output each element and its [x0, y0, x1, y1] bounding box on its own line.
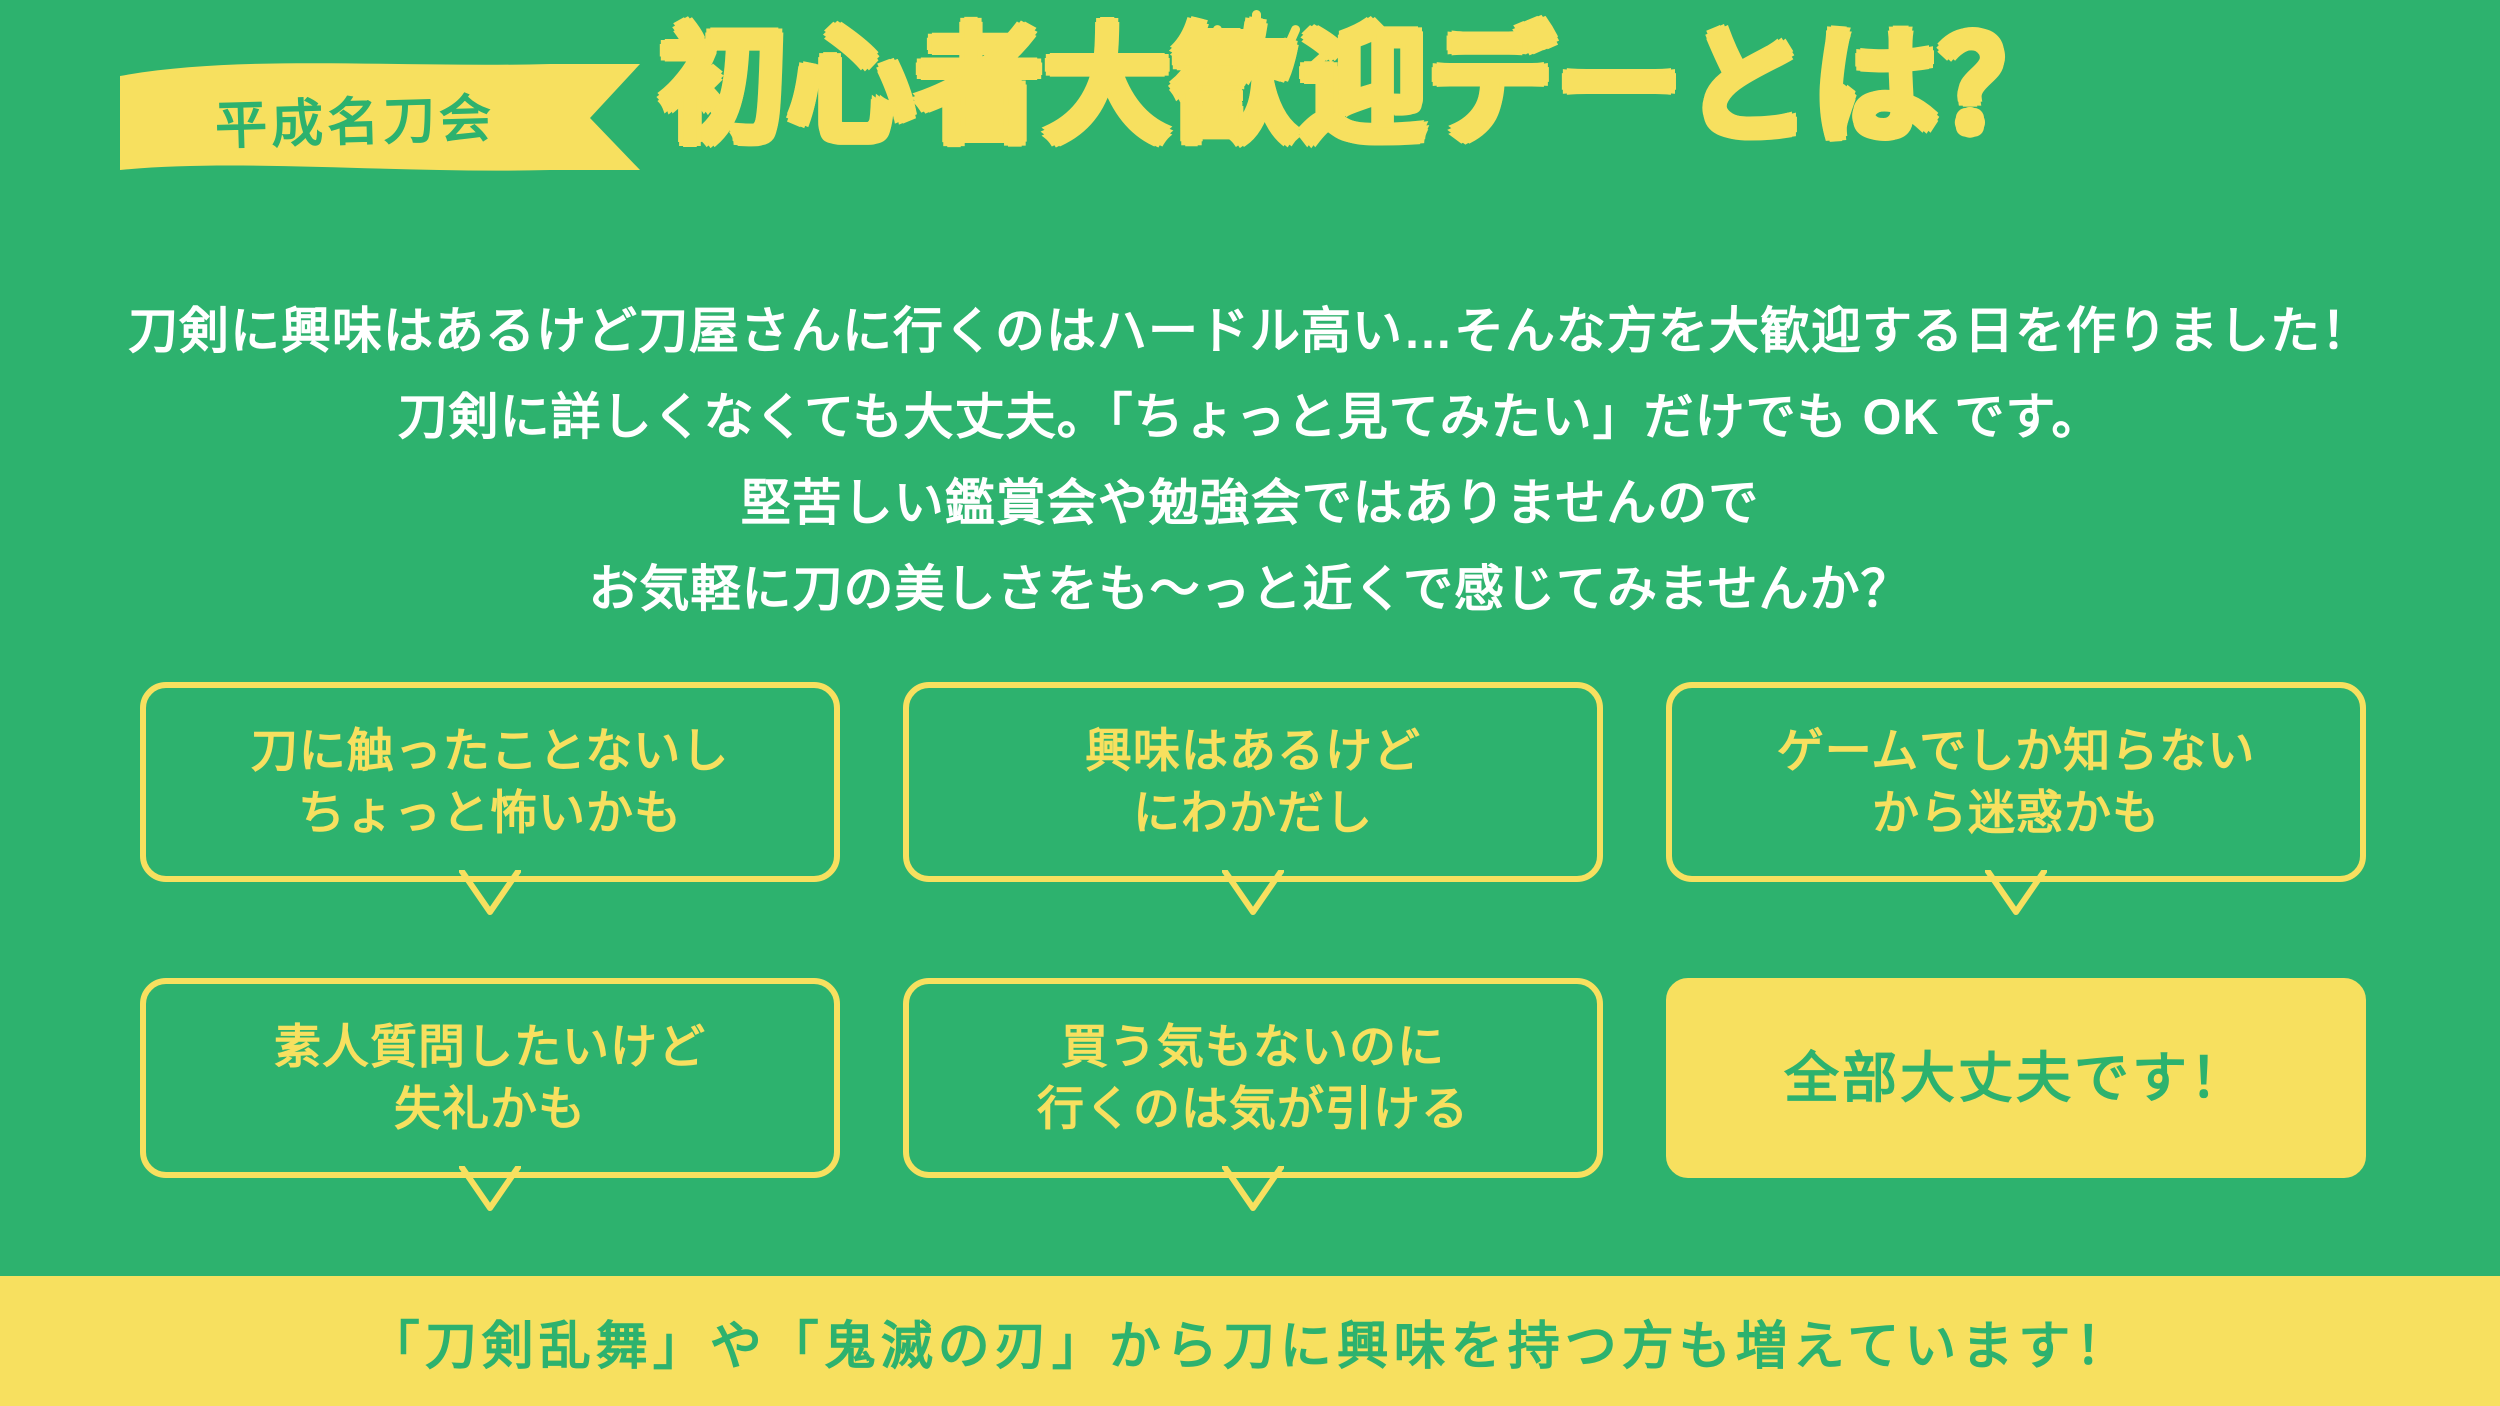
- concern-bubble-2: 興味はあるけど にわかだし: [903, 682, 1603, 882]
- bubble-5-line-1: 買う気もないのに: [1061, 1016, 1445, 1078]
- bubble-5-line-2: 行くのは気が引ける: [1037, 1078, 1469, 1140]
- bubble-3-line-1: ゲームでしか知らない: [1777, 720, 2256, 782]
- concern-bubble-5: 買う気もないのに 行くのは気が引ける: [903, 978, 1603, 1178]
- bubble-1-line-2: ちょっと怖いかも: [298, 782, 682, 844]
- reassurance-text: 全部大丈夫です！: [1784, 1047, 2248, 1109]
- speech-tail-icon: [459, 1166, 521, 1212]
- lead-line-2: 刀剣に詳しくなくても大丈夫。「ちょっと見てみたい」だけでも OK です。: [0, 374, 2500, 460]
- lead-paragraph: 刀剣に興味はあるけど刀屋さんに行くのはハードル高い…そんな方を大歓迎する日を作り…: [0, 288, 2500, 632]
- concern-bubble-grid: 刀に触ったことないし ちょっと怖いかも 興味はあるけど にわかだし ゲームでしか…: [140, 682, 2366, 1178]
- concern-bubble-4: 素人質問したいけど 失礼かも: [140, 978, 840, 1178]
- header: 平成名刀会 初心者大歓迎デーとは？: [0, 0, 2500, 185]
- bubble-2-line-2: にわかだし: [1133, 782, 1373, 844]
- reassurance-callout: 全部大丈夫です！: [1666, 978, 2366, 1178]
- promo-poster: 平成名刀会 初心者大歓迎デーとは？ 刀剣に興味はあるけど刀屋さんに行くのはハード…: [0, 0, 2500, 1406]
- footer-banner: 「刀剣乱舞」や「鬼滅の刃」から刀に興味を持つ方も増えています！: [0, 1276, 2500, 1406]
- footer-text: 「刀剣乱舞」や「鬼滅の刃」から刀に興味を持つ方も増えています！: [368, 1304, 2132, 1379]
- bubble-3-line-2: から迷惑かも: [1872, 782, 2160, 844]
- page-title: 初心者大歓迎デーとは？: [660, 24, 2068, 150]
- speech-tail-icon: [1985, 870, 2047, 916]
- bubble-2-line-1: 興味はあるけど: [1085, 720, 1421, 782]
- bubble-4-line-2: 失礼かも: [394, 1078, 586, 1140]
- lead-line-1: 刀剣に興味はあるけど刀屋さんに行くのはハードル高い…そんな方を大歓迎する日を作り…: [0, 288, 2500, 374]
- concern-bubble-1: 刀に触ったことないし ちょっと怖いかも: [140, 682, 840, 882]
- lead-line-3: 堅苦しい鑑賞会や勉強会ではありませんので: [0, 460, 2500, 546]
- bubble-1-line-1: 刀に触ったことないし: [251, 720, 730, 782]
- bubble-4-line-1: 素人質問したいけど: [274, 1016, 706, 1078]
- lead-line-4: お気軽に刀の美しさをも〜っと近くで感じてみませんか？: [0, 546, 2500, 632]
- ribbon-label: 平成名刀会: [119, 55, 592, 178]
- speech-tail-icon: [1222, 1166, 1284, 1212]
- concern-bubble-3: ゲームでしか知らない から迷惑かも: [1666, 682, 2366, 882]
- speech-tail-icon: [459, 870, 521, 916]
- speech-tail-icon: [1222, 870, 1284, 916]
